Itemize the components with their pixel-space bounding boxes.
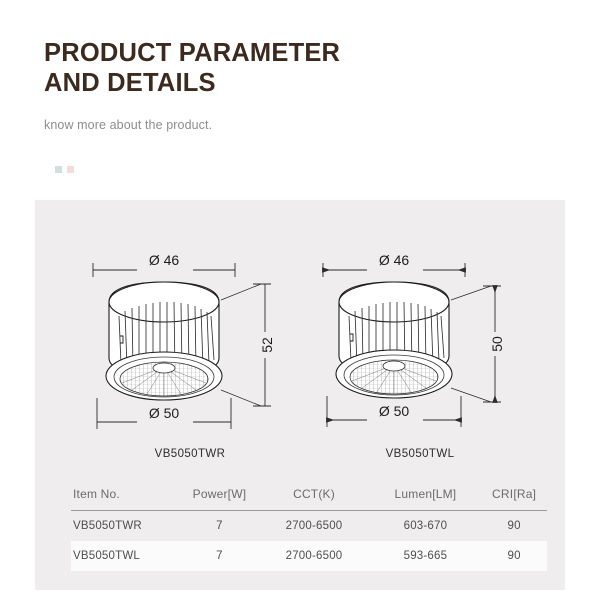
part-label: VB5050TWR [75, 448, 305, 460]
downlight-technical-drawing-icon: Ø 46 [305, 240, 535, 450]
specification-table: Item No. Power[W] CCT(K) Lumen[LM] CRI[R… [71, 485, 547, 571]
page-title: PRODUCT PARAMETER AND DETAILS [44, 38, 524, 98]
cell-item: VB5050TWL [71, 541, 181, 571]
decor-dot-teal [55, 166, 62, 173]
cell-cct: 2700-6500 [258, 511, 369, 542]
product-drawing-vb5050twr: Ø 46 [75, 240, 305, 475]
column-header-lumen: Lumen[LM] [370, 485, 482, 511]
specification-panel: Ø 46 [35, 200, 565, 590]
cell-lumen: 593-665 [370, 541, 482, 571]
top-dimension-text: Ø 46 [379, 252, 410, 268]
column-header-item: Item No. [71, 485, 181, 511]
product-drawing-vb5050twl: Ø 46 [305, 240, 535, 475]
side-dimension-text: 52 [259, 337, 275, 353]
cell-lumen: 603-670 [370, 511, 482, 542]
part-label: VB5050TWL [305, 448, 535, 460]
decorative-dots [55, 166, 74, 173]
decor-dot-pink [67, 166, 74, 173]
bottom-dimension-text: Ø 50 [149, 405, 180, 421]
bottom-dimension-text: Ø 50 [379, 403, 410, 419]
page-header: PRODUCT PARAMETER AND DETAILS know more … [44, 38, 524, 133]
cell-power: 7 [181, 541, 259, 571]
cell-cct: 2700-6500 [258, 541, 369, 571]
downlight-technical-drawing-icon: Ø 46 [75, 240, 305, 450]
side-dimension-text: 50 [489, 336, 505, 352]
column-header-cri: CRI[Ra] [481, 485, 547, 511]
cell-cri: 90 [481, 511, 547, 542]
column-header-power: Power[W] [181, 485, 259, 511]
table-header-row: Item No. Power[W] CCT(K) Lumen[LM] CRI[R… [71, 485, 547, 511]
cell-item: VB5050TWR [71, 511, 181, 542]
column-header-cct: CCT(K) [258, 485, 369, 511]
table-row: VB5050TWR 7 2700-6500 603-670 90 [71, 511, 547, 542]
product-drawings: Ø 46 [35, 200, 565, 475]
cell-cri: 90 [481, 541, 547, 571]
top-dimension-text: Ø 46 [149, 252, 180, 268]
cell-power: 7 [181, 511, 259, 542]
table-row: VB5050TWL 7 2700-6500 593-665 90 [71, 541, 547, 571]
page-subtitle: know more about the product. [44, 98, 524, 133]
